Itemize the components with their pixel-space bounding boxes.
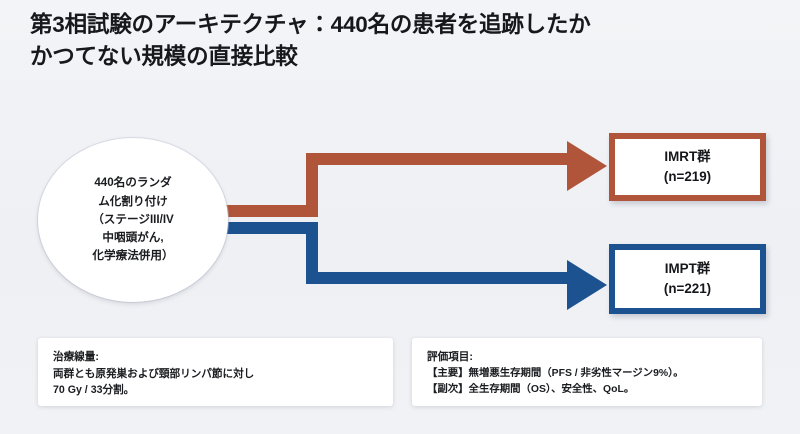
note-title-dose: 治療線量: [53,350,379,366]
note-title-endpoints: 評価項目: [427,350,748,366]
note-card-dose: 治療線量: 両群とも原発巣および頸部リンパ節に対し 70 Gy / 33分割。 [38,338,393,406]
note-body-dose: 両群とも原発巣および頸部リンパ節に対し 70 Gy / 33分割。 [53,366,379,398]
arm-box-imrt: IMRT群 (n=219) [609,133,766,201]
randomization-node: 440名のランダ ム化割り付け （ステージIII/IV 中咽頭がん, 化学療法併… [38,138,228,302]
page-title: 第3相試験のアーキテクチャ：440名の患者を追跡したか かつてない規模の直接比較 [30,9,730,73]
note-card-endpoints: 評価項目: 【主要】無増悪生存期間（PFS / 非劣性マージン9%）。 【副次】… [412,338,762,406]
slide-canvas: 第3相試験のアーキテクチャ：440名の患者を追跡したか かつてない規模の直接比較… [0,0,800,434]
randomization-label: 440名のランダ ム化割り付け （ステージIII/IV 中咽頭がん, 化学療法併… [82,174,184,266]
connector-imrt-line [212,159,573,211]
connector-imrt-arrowhead [567,141,607,191]
connector-impt-arrowhead [567,260,607,310]
arm-label-imrt: IMRT群 (n=219) [664,147,711,188]
connector-impt-line [208,228,573,278]
arm-box-impt: IMPT群 (n=221) [609,244,766,314]
note-body-endpoints: 【主要】無増悪生存期間（PFS / 非劣性マージン9%）。 【副次】全生存期間（… [427,366,748,398]
arm-label-impt: IMPT群 (n=221) [664,259,711,300]
